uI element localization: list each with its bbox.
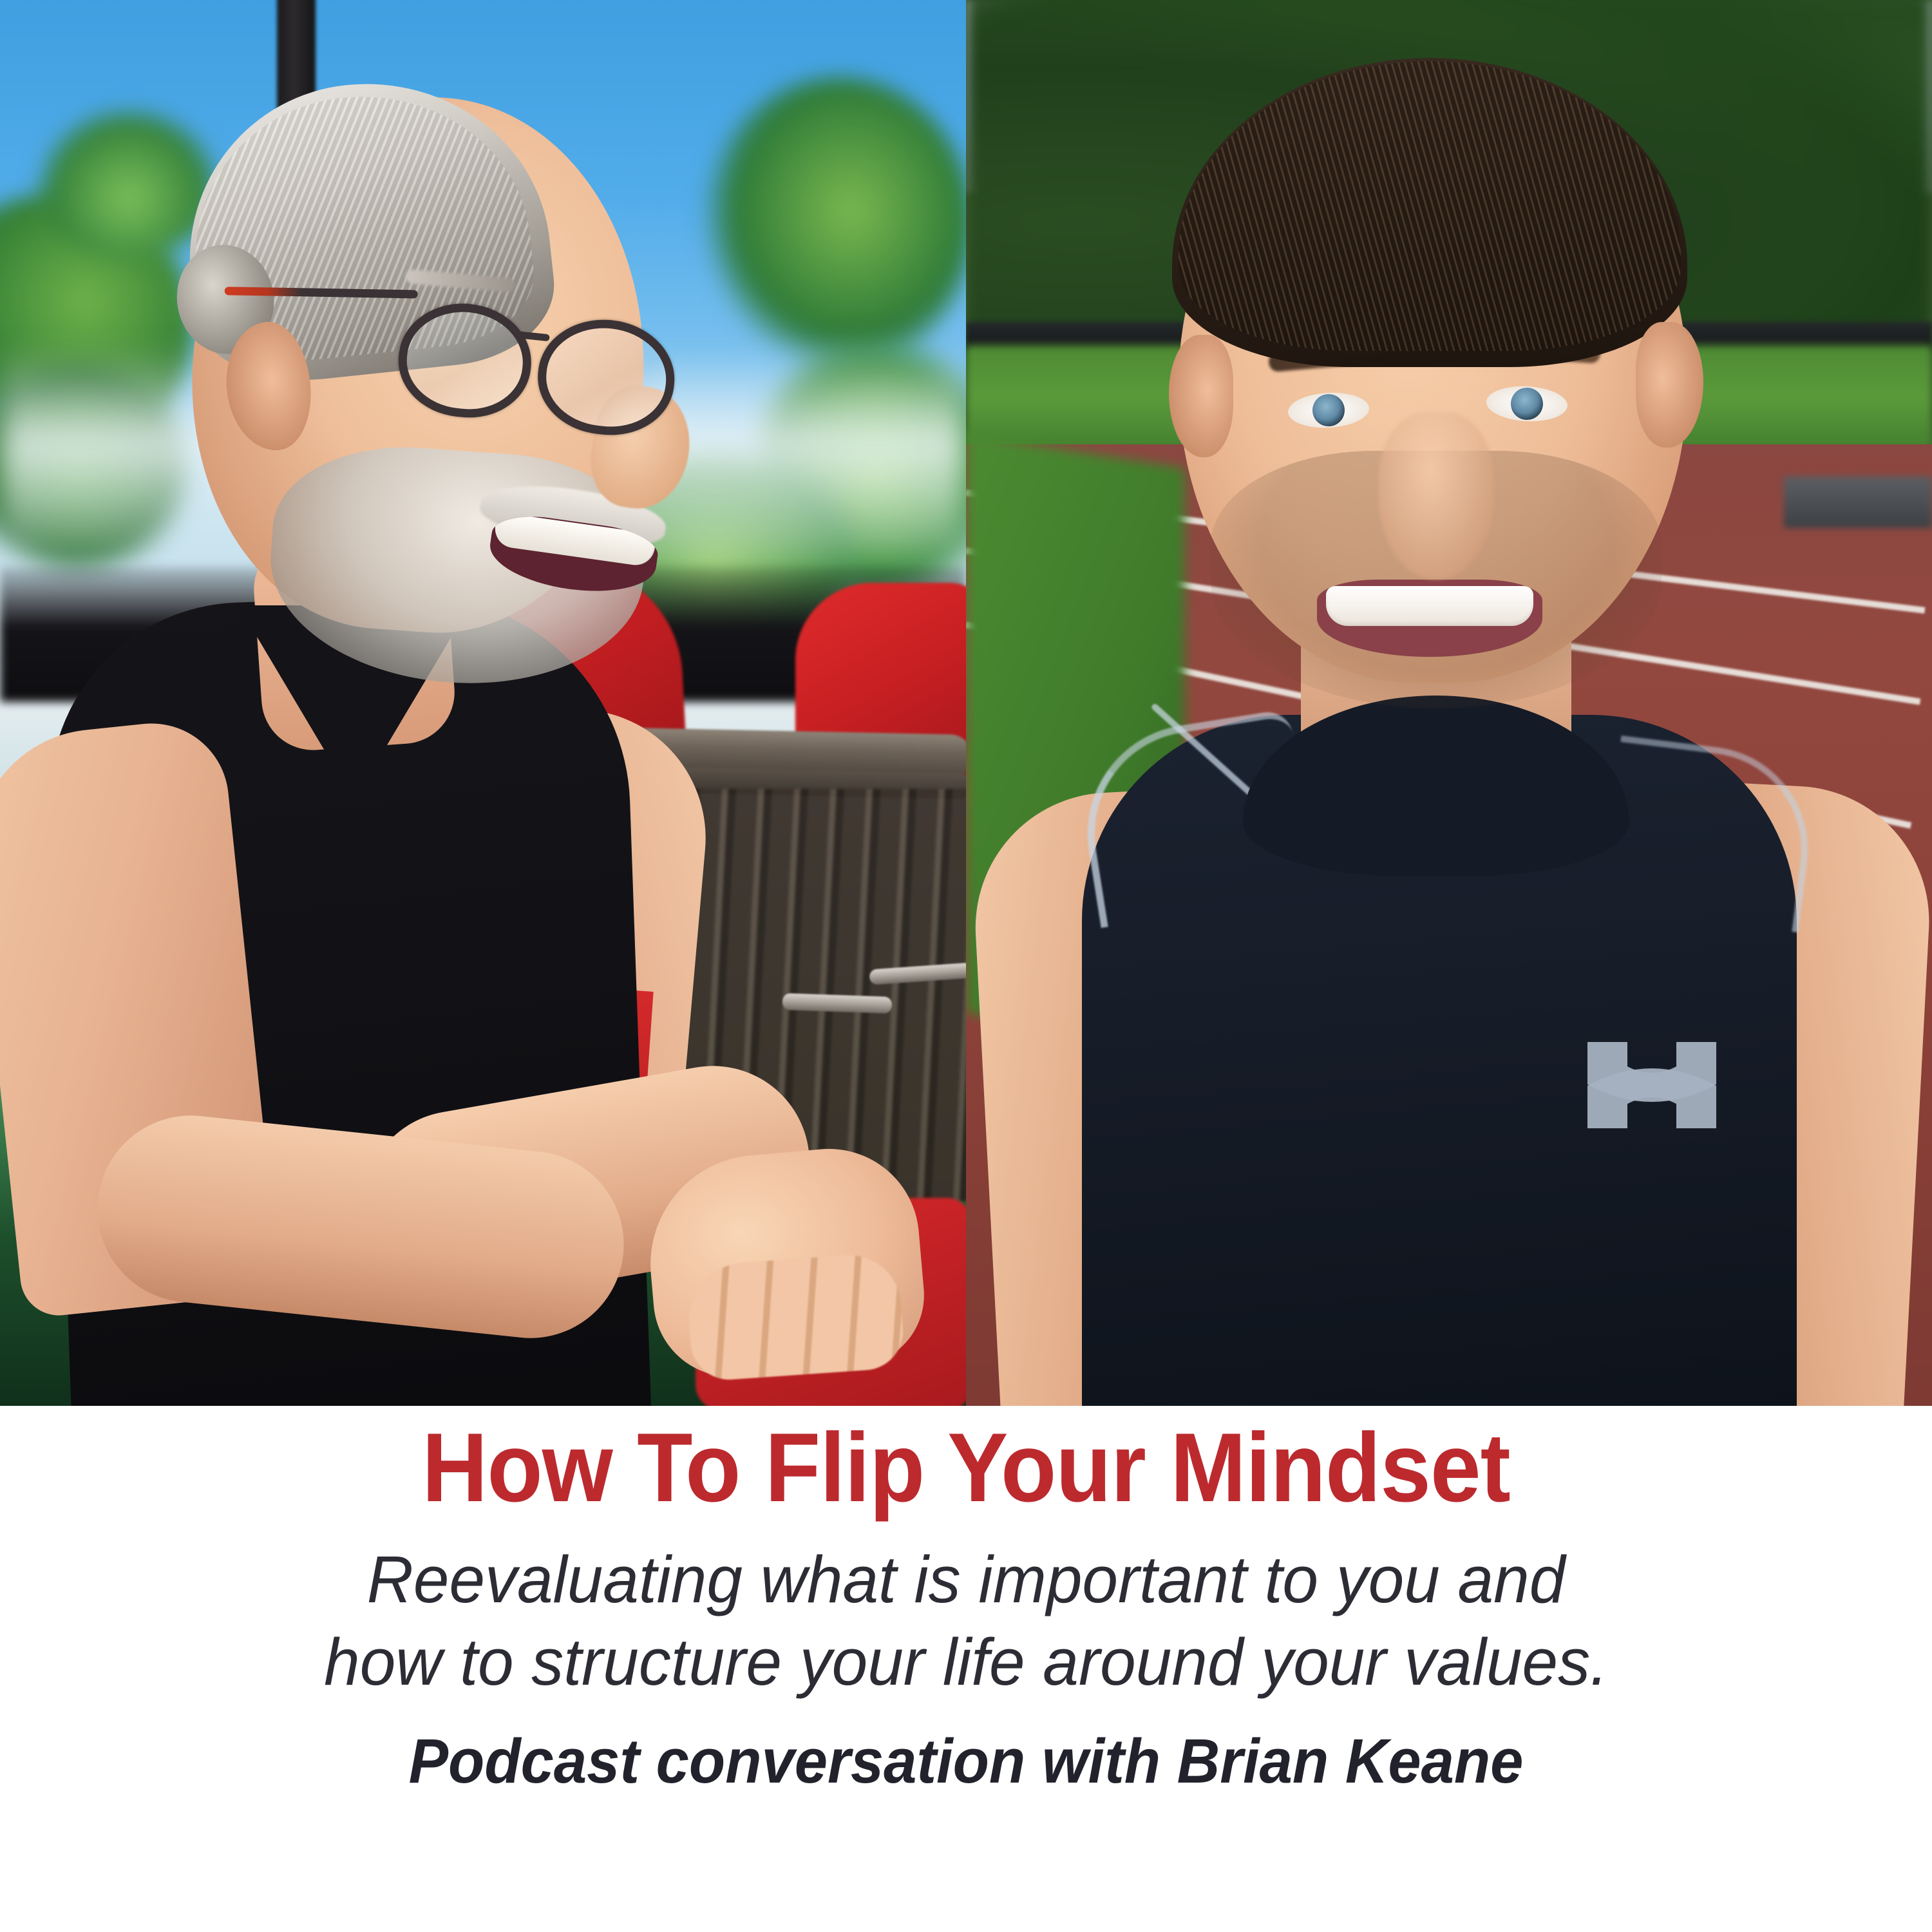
photo-strip xyxy=(0,0,1932,1406)
photo-left-older-man xyxy=(0,0,966,1406)
page-title: How To Flip Your Mindset xyxy=(68,1406,1864,1517)
byline: Podcast conversation with Brian Keane xyxy=(48,1703,1884,1792)
nose xyxy=(1378,412,1494,580)
mouth xyxy=(1317,580,1542,657)
iris xyxy=(1312,393,1346,428)
fingers xyxy=(685,1252,905,1383)
ear-left xyxy=(1169,335,1233,457)
teeth xyxy=(1326,586,1533,626)
palm-tree-icon xyxy=(702,77,966,374)
glasses-lens-right xyxy=(533,313,680,441)
iris xyxy=(1510,387,1544,421)
subtitle-line-2: how to structure your life around your v… xyxy=(29,1621,1903,1703)
under-armour-logo-icon xyxy=(1581,1037,1723,1133)
podcast-cover-poster: How To Flip Your Mindset Reevaluating wh… xyxy=(0,0,1932,1932)
subtitle: Reevaluating what is important to you an… xyxy=(29,1517,1903,1703)
track-bench xyxy=(1784,477,1932,528)
glasses-lens-left xyxy=(393,297,536,424)
photo-right-brian-keane xyxy=(966,0,1932,1406)
text-block: How To Flip Your Mindset Reevaluating wh… xyxy=(0,1406,1932,1932)
subtitle-line-1: Reevaluating what is important to you an… xyxy=(29,1539,1903,1621)
